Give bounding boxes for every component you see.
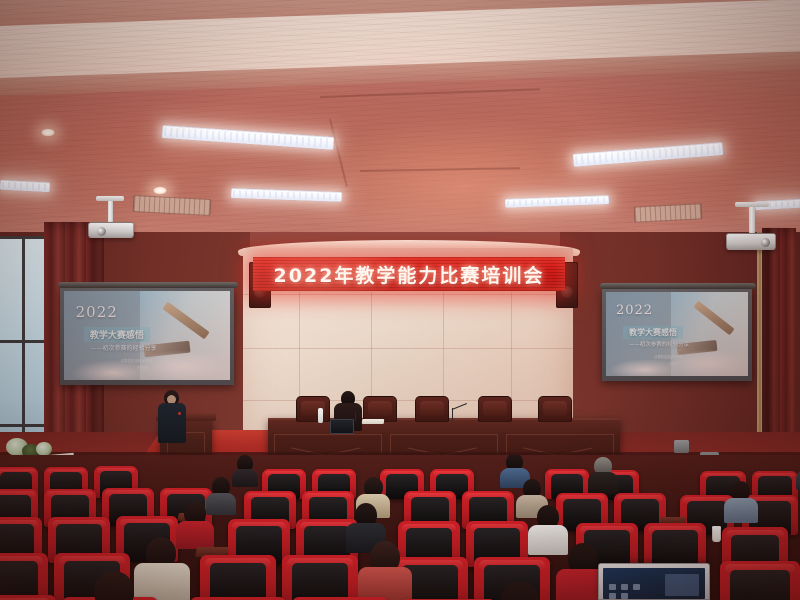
- slide-subtitle: ——初次参赛的经验分享: [629, 340, 690, 348]
- laptop-screen: [603, 568, 705, 599]
- slide-title: 教学大赛感悟: [623, 326, 683, 339]
- head-table-chair: [478, 396, 512, 422]
- ceiling-projector-left: [88, 222, 134, 238]
- projector-lens-left: [97, 227, 106, 236]
- projector-ceiling-plate-right: [735, 202, 769, 207]
- slide-year: 2022: [616, 303, 653, 318]
- led-banner-text: 2022年教学能力比赛培训会: [274, 261, 545, 288]
- host-laptop: [330, 419, 354, 434]
- led-banner: 2022年教学能力比赛培训会: [253, 257, 565, 291]
- slide-org-line1: 计算机应用技术学院: [120, 359, 152, 364]
- audience-member: [486, 581, 556, 600]
- paper-cup: [712, 527, 721, 542]
- papers-on-table: [362, 419, 385, 424]
- audience-seat: [200, 555, 276, 600]
- audience-member: [724, 481, 758, 521]
- audience-member: [588, 457, 618, 491]
- head-table-chair: [415, 396, 449, 422]
- slide-title: 教学大赛感悟: [84, 327, 150, 342]
- audience-seat: [720, 561, 800, 600]
- audience-member: [78, 571, 152, 600]
- left-projection-screen: 2022 教学大赛感悟 ——初次参赛的经验分享 计算机应用技术学院 王老师: [60, 288, 234, 385]
- head-table-chair: [296, 396, 330, 422]
- foreground-open-laptop: [598, 563, 710, 600]
- audience-seat: [282, 555, 358, 600]
- waste-bin: [674, 440, 689, 453]
- projector-lens-right: [761, 238, 770, 247]
- slide-org-line2: 王老师: [668, 362, 678, 366]
- audience-seat: [0, 595, 56, 600]
- right-projection-screen: 2022 教学大赛感悟 ——初次参赛的经验分享 计算机应用技术学院 王老师: [602, 289, 752, 381]
- slide-left: 2022 教学大赛感悟 ——初次参赛的经验分享 计算机应用技术学院 王老师: [64, 291, 230, 380]
- water-bottle: [318, 408, 323, 423]
- slide-right: 2022 教学大赛感悟 ——初次参赛的经验分享 计算机应用技术学院 王老师: [606, 292, 748, 376]
- slide-org-line1: 计算机应用技术学院: [654, 355, 683, 359]
- presenter-torso: [158, 403, 186, 443]
- projector-mount-pole-left: [108, 200, 113, 224]
- ceiling-light-glow: [288, 115, 640, 250]
- slide-year: 2022: [76, 303, 118, 321]
- ceiling-downlight: [152, 186, 168, 195]
- projector-ceiling-plate-left: [96, 196, 124, 201]
- presenter-badge: [178, 412, 181, 415]
- projector-mount-pole-right: [749, 206, 755, 234]
- head-table-chair: [538, 396, 572, 422]
- audience-member: [358, 541, 412, 600]
- slide-subtitle: ——初次参赛的经验分享: [91, 343, 157, 352]
- conference-hall-photo: 2022年教学能力比赛培训会 2022 教学大赛感悟 ——初次参赛的经验分享 计…: [0, 0, 800, 600]
- plant: [36, 442, 52, 456]
- table-microphone: [355, 412, 356, 421]
- presenter-at-podium: [158, 390, 186, 442]
- ceiling-downlight: [40, 128, 56, 137]
- slide-org-line2: 王老师: [137, 366, 148, 371]
- ceiling: [0, 0, 800, 250]
- audience-member: [796, 455, 800, 487]
- audience-seat: [0, 553, 48, 600]
- ceiling-projector-right: [726, 233, 776, 250]
